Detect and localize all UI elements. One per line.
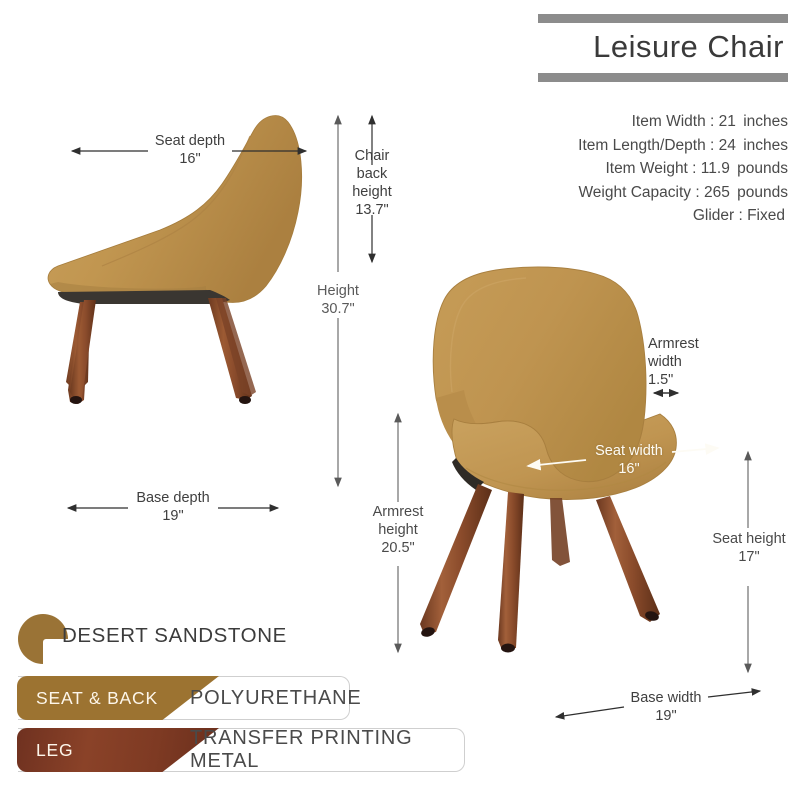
dim-value: 19": [622, 708, 710, 726]
color-swatch-row: DESERT SANDSTONE: [18, 612, 488, 668]
dim-base-width: Base width 19": [622, 690, 710, 725]
dim-value: 16": [588, 461, 670, 479]
material-row-leg: LEG TRANSFER PRINTING METAL: [18, 728, 465, 772]
dim-value: 20.5": [366, 539, 430, 557]
dim-armrest-height: Armrest height 20.5": [366, 503, 430, 557]
dim-seat-height: Seat height 17": [712, 530, 786, 566]
dim-value: 1.5": [648, 371, 714, 389]
material-key: LEG: [36, 729, 73, 771]
dim-label: Armrest width: [648, 335, 714, 371]
dim-seat-width: Seat width 16": [588, 443, 670, 478]
color-name: DESERT SANDSTONE: [62, 624, 287, 648]
product-spec-sheet: Leisure Chair Item Width : 21 inches Ite…: [0, 0, 800, 800]
dim-label: Armrest height: [366, 503, 430, 539]
dim-value: 17": [712, 548, 786, 566]
dim-label: Seat height: [712, 530, 786, 548]
material-value: POLYURETHANE: [190, 677, 362, 719]
material-key: SEAT & BACK: [36, 677, 158, 719]
dim-label: Base width: [631, 690, 702, 706]
dim-armrest-width: Armrest width 1.5": [648, 335, 714, 389]
dim-label: Seat width: [595, 443, 663, 459]
material-legend: DESERT SANDSTONE SEAT & BACK POLYURETHAN…: [18, 612, 488, 772]
material-value: TRANSFER PRINTING METAL: [190, 729, 464, 771]
material-row-seat-back: SEAT & BACK POLYURETHANE: [18, 676, 350, 720]
